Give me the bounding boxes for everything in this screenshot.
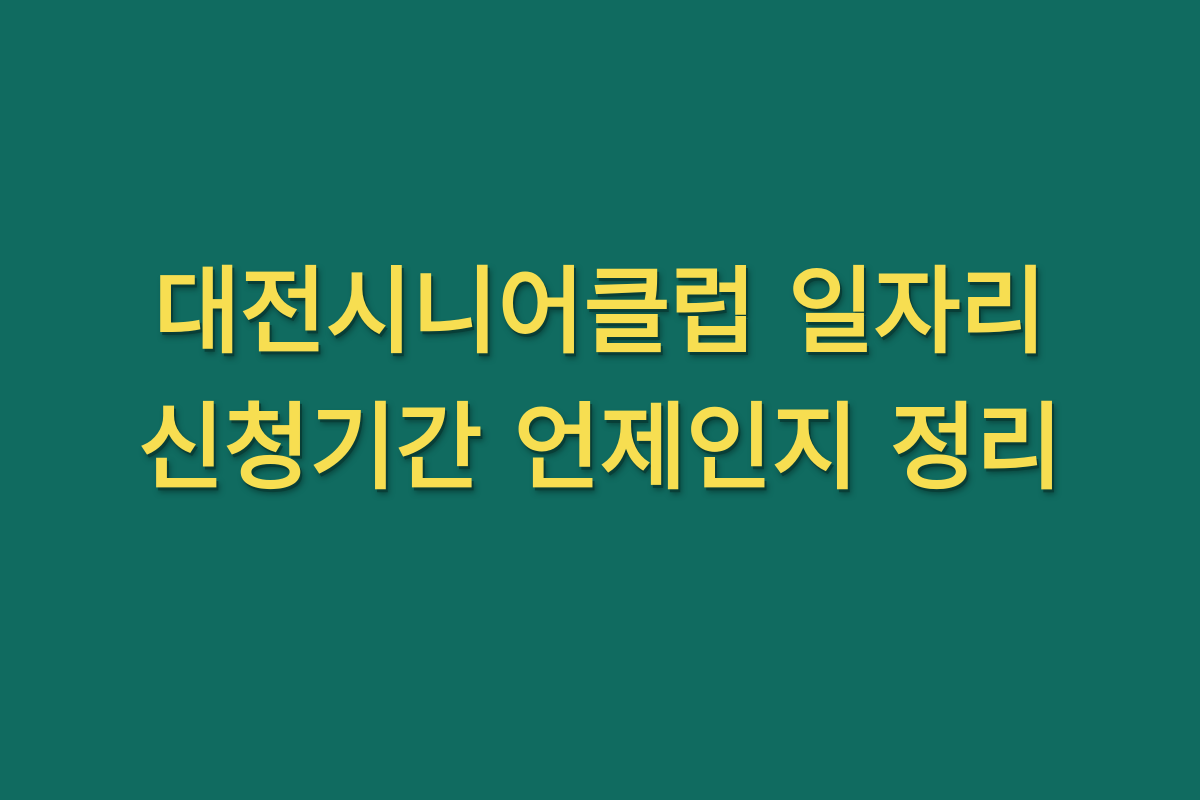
headline-block: 대전시니어클럽 일자리 신청기간 언제인지 정리	[0, 245, 1200, 517]
headline-line-2: 신청기간 언제인지 정리	[138, 381, 1062, 517]
banner-canvas: 대전시니어클럽 일자리 신청기간 언제인지 정리	[0, 0, 1200, 800]
headline-line-1: 대전시니어클럽 일자리	[154, 245, 1046, 381]
